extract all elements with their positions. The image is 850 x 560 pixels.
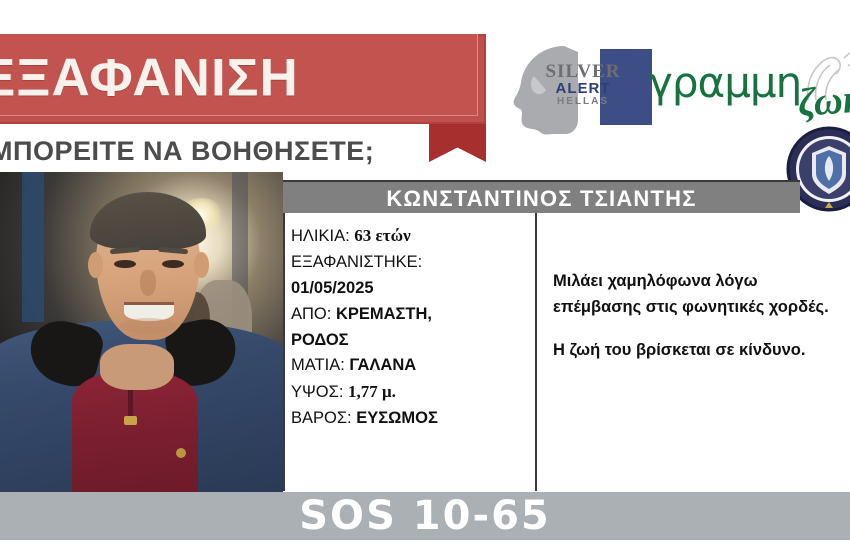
- missing-person-poster: ΕΞΑΦΑΝΙΣΗ ΜΠΟΡΕΙΤΕ ΝΑ ΒΟΗΘΗΣΕΤΕ; SILVER …: [0, 0, 850, 560]
- fact-value: 63 ετών: [354, 226, 410, 245]
- fact-value: ΚΡΕΜΑΣΤΗ,: [336, 305, 432, 323]
- alert-banner: ΕΞΑΦΑΝΙΣΗ: [0, 34, 486, 124]
- person-notes: Μιλάει χαμηλόφωνα λόγω επέμβασης στις φω…: [553, 269, 839, 364]
- silver-alert-wordmark: SILVER ALERT HELLAS: [518, 62, 648, 107]
- fact-row: ΑΠΟ: ΚΡΕΜΑΣΤΗ,: [291, 302, 531, 328]
- photo-neck: [100, 344, 174, 390]
- panel-divider: [535, 213, 537, 491]
- silver-alert-line1: SILVER: [518, 62, 648, 81]
- fact-label: ΜΑΤΙΑ:: [291, 356, 345, 374]
- note-speech: Μιλάει χαμηλόφωνα λόγω επέμβασης στις φω…: [553, 269, 839, 320]
- fact-row: 01/05/2025: [291, 276, 531, 302]
- fact-label: ΒΑΡΟΣ:: [291, 409, 352, 427]
- fact-label: ΕΞΑΦΑΝΙΣΤΗΚΕ:: [291, 253, 422, 271]
- bottom-margin: [0, 540, 850, 560]
- photo-chin: [120, 318, 176, 334]
- photo-ear-left: [88, 252, 103, 278]
- note-danger: Η ζωή του βρίσκεται σε κίνδυνο.: [553, 338, 839, 364]
- fact-value: 01/05/2025: [291, 279, 374, 297]
- fact-label: ΥΨΟΣ:: [291, 383, 343, 401]
- photo-jacket-emblem: [176, 448, 186, 458]
- help-question: ΜΠΟΡΕΙΤΕ ΝΑ ΒΟΗΘΗΣΕΤΕ;: [0, 136, 374, 167]
- photo-eye-left: [114, 260, 136, 268]
- photo-eye-right: [162, 260, 184, 268]
- alert-banner-text: ΕΞΑΦΑΝΙΣΗ: [0, 47, 480, 108]
- poster-header: ΕΞΑΦΑΝΙΣΗ ΜΠΟΡΕΙΤΕ ΝΑ ΒΟΗΘΗΣΕΤΕ; SILVER …: [0, 0, 850, 175]
- fact-value: ΓΑΛΑΝΑ: [349, 356, 416, 374]
- grammi-zois-logo: γραμμη ζωής: [648, 52, 850, 136]
- fact-value: ΕΥΣΩΜΟΣ: [356, 409, 438, 427]
- fact-row: ΒΑΡΟΣ: ΕΥΣΩΜΟΣ: [291, 406, 531, 432]
- silver-alert-line3: HELLAS: [518, 97, 648, 107]
- fact-row: ΥΨΟΣ: 1,77 μ.: [291, 379, 531, 406]
- ribbon-tail: [429, 124, 486, 162]
- photo-blue-post: [22, 172, 44, 322]
- person-name: ΚΩΝΣΤΑΝΤΙΝΟΣ ΤΣΙΑΝΤΗΣ: [386, 186, 696, 212]
- silver-alert-line2: ALERT: [518, 81, 648, 96]
- fact-label: ΗΛΙΚΙΑ:: [291, 227, 350, 245]
- photo-shirt-button: [124, 416, 137, 425]
- grammi-word: γραμμη: [648, 58, 801, 107]
- fact-value: 1,77 μ.: [348, 382, 396, 401]
- silver-alert-logo: SILVER ALERT HELLAS: [508, 40, 653, 140]
- fact-row: ΡΟΔΟΣ: [291, 328, 531, 354]
- zois-script: ζωής: [796, 73, 850, 126]
- photo-nose: [140, 270, 156, 296]
- hotline-number: SOS 10-65: [299, 493, 550, 539]
- fact-value: ΡΟΔΟΣ: [291, 331, 349, 349]
- photo-ear-right: [194, 252, 209, 278]
- fact-label: ΑΠΟ:: [291, 305, 331, 323]
- hotline-bar: SOS 10-65: [0, 492, 850, 540]
- person-name-bar: ΚΩΝΣΤΑΝΤΙΝΟΣ ΤΣΙΑΝΤΗΣ: [283, 180, 800, 217]
- person-facts-list: ΗΛΙΚΙΑ: 63 ετών ΕΞΑΦΑΝΙΣΤΗΚΕ: 01/05/2025…: [291, 223, 531, 432]
- missing-person-photo: [0, 172, 283, 492]
- fact-row: ΕΞΑΦΑΝΙΣΤΗΚΕ:: [291, 250, 531, 276]
- fact-row: ΗΛΙΚΙΑ: 63 ετών: [291, 223, 531, 250]
- details-panel: ΗΛΙΚΙΑ: 63 ετών ΕΞΑΦΑΝΙΣΤΗΚΕ: 01/05/2025…: [283, 213, 850, 491]
- fact-row: ΜΑΤΙΑ: ΓΑΛΑΝΑ: [291, 353, 531, 379]
